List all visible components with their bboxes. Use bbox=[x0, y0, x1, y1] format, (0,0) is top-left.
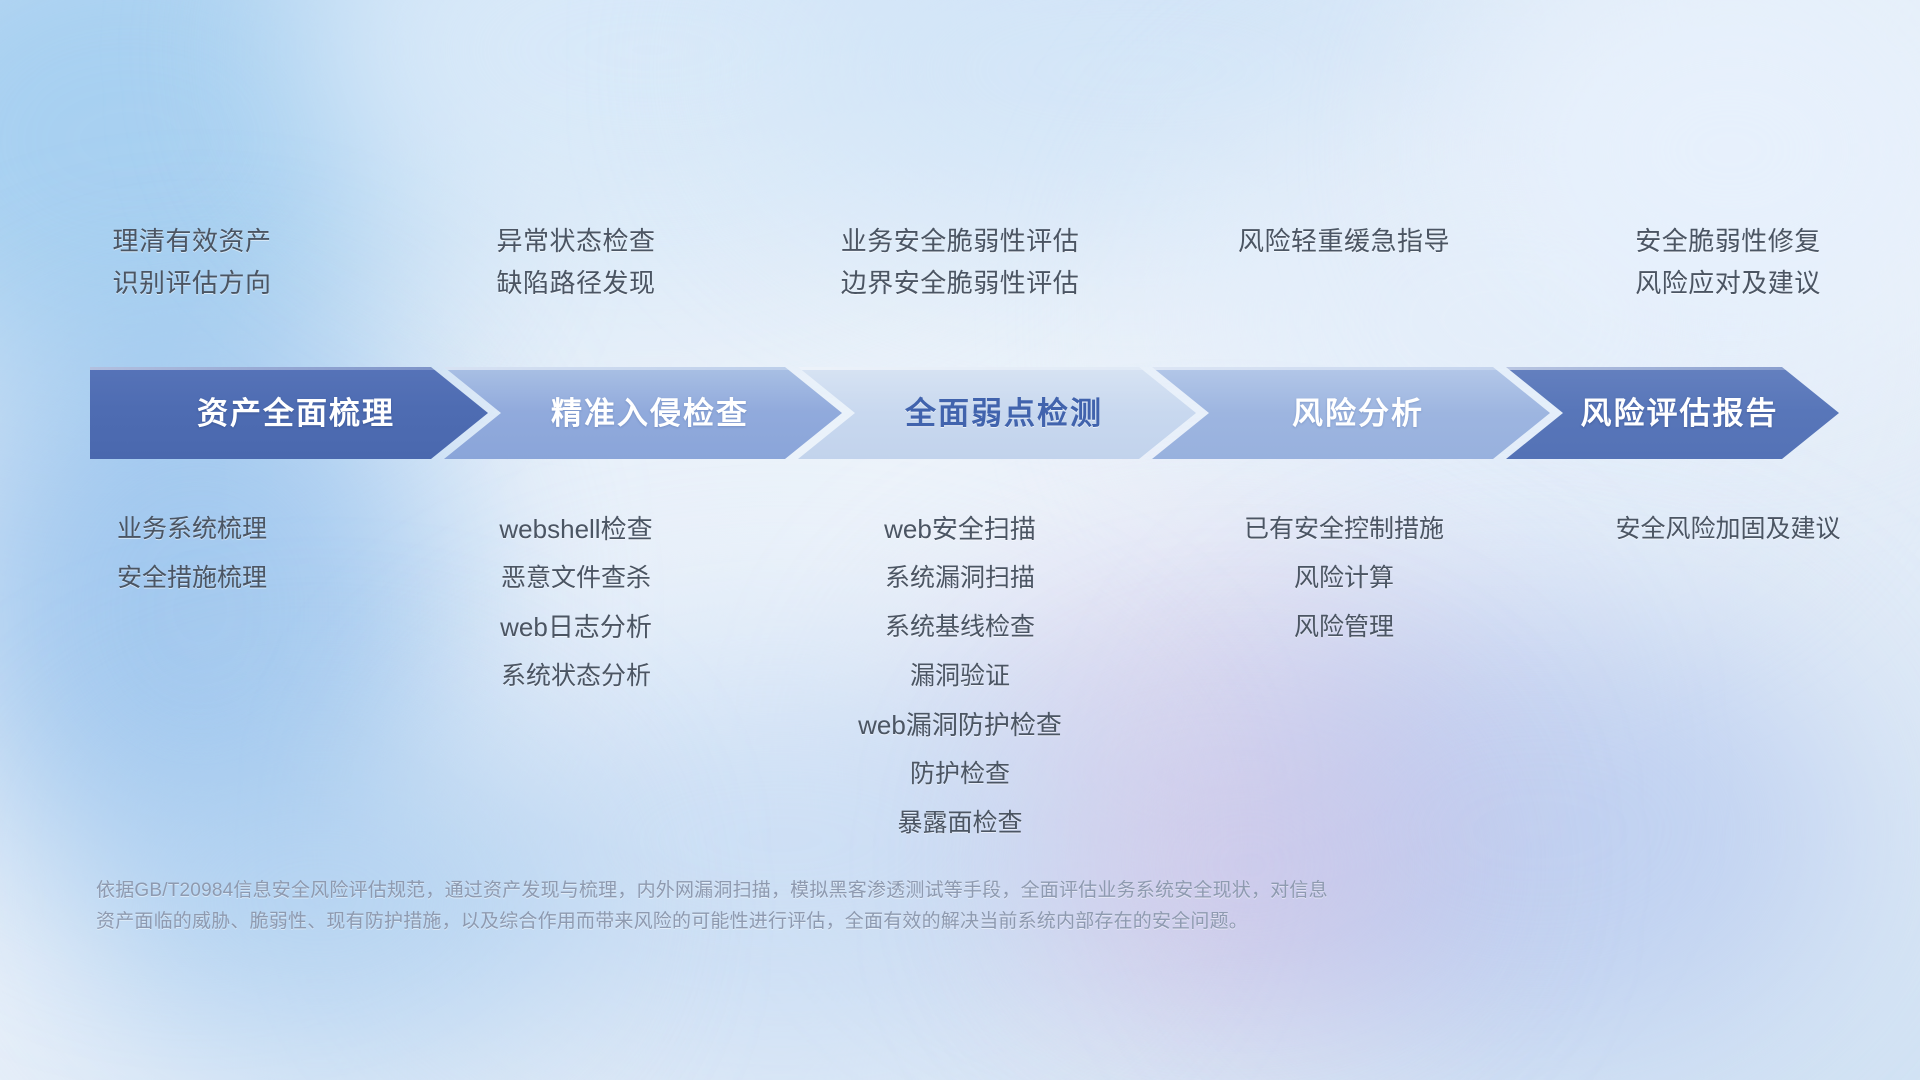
chevron-stage-3[interactable]: 全面弱点检测 bbox=[798, 367, 1196, 459]
list-item: 系统基线检查 bbox=[885, 603, 1035, 652]
top-note: 安全脆弱性修复 bbox=[1635, 228, 1821, 254]
top-notes-row: 理清有效资产 识别评估方向 异常状态检查 缺陷路径发现 业务安全脆弱性评估 边界… bbox=[0, 228, 1920, 348]
list-item: web漏洞防护检查 bbox=[858, 701, 1062, 750]
list-item: 漏洞验证 bbox=[910, 652, 1010, 701]
list-item: webshell检查 bbox=[499, 505, 652, 554]
top-notes-stage-4: 风险轻重缓急指导 bbox=[1152, 228, 1536, 348]
chevron-stage-2[interactable]: 精准入侵检查 bbox=[444, 367, 842, 459]
chevron-stage-5[interactable]: 风险评估报告 bbox=[1506, 367, 1839, 459]
list-item: 业务系统梳理 bbox=[117, 505, 267, 554]
list-item: 防护检查 bbox=[910, 750, 1010, 799]
chevron-label: 资产全面梳理 bbox=[90, 398, 488, 429]
stage-items-row: 业务系统梳理 安全措施梳理 webshell检查 恶意文件查杀 web日志分析 … bbox=[0, 505, 1920, 848]
top-notes-stage-2: 异常状态检查 缺陷路径发现 bbox=[384, 228, 768, 348]
stage-items-3: web安全扫描 系统漏洞扫描 系统基线检查 漏洞验证 web漏洞防护检查 防护检… bbox=[768, 505, 1152, 848]
stage-items-5: 安全风险加固及建议 bbox=[1536, 505, 1920, 554]
stage-items-4: 已有安全控制措施 风险计算 风险管理 bbox=[1152, 505, 1536, 652]
footer-line-2: 资产面临的威胁、脆弱性、现有防护措施，以及综合作用而带来风险的可能性进行评估，全… bbox=[96, 906, 1616, 937]
top-note: 识别评估方向 bbox=[112, 270, 271, 296]
top-note: 业务安全脆弱性评估 bbox=[841, 228, 1080, 254]
process-chevron-band: 资产全面梳理 精准入侵检查 全面弱点检测 风险分析 风险评估报告 bbox=[90, 367, 1839, 459]
chevron-label: 全面弱点检测 bbox=[798, 398, 1196, 429]
list-item: 已有安全控制措施 bbox=[1244, 505, 1444, 554]
top-notes-stage-5: 安全脆弱性修复 风险应对及建议 bbox=[1536, 228, 1920, 348]
top-note: 边界安全脆弱性评估 bbox=[841, 270, 1080, 296]
top-notes-stage-3: 业务安全脆弱性评估 边界安全脆弱性评估 bbox=[768, 228, 1152, 348]
top-note: 异常状态检查 bbox=[496, 228, 655, 254]
list-item: 暴露面检查 bbox=[897, 799, 1022, 848]
top-note: 缺陷路径发现 bbox=[496, 270, 655, 296]
list-item: 系统状态分析 bbox=[501, 652, 651, 701]
footer-line-1: 依据GB/T20984信息安全风险评估规范，通过资产发现与梳理，内外网漏洞扫描，… bbox=[96, 875, 1616, 906]
list-item: 风险计算 bbox=[1294, 554, 1394, 603]
top-note: 理清有效资产 bbox=[112, 228, 271, 254]
top-note: 风险应对及建议 bbox=[1635, 270, 1821, 296]
list-item: 风险管理 bbox=[1294, 603, 1394, 652]
stage-items-1: 业务系统梳理 安全措施梳理 bbox=[0, 505, 384, 603]
list-item: 安全风险加固及建议 bbox=[1615, 505, 1840, 554]
chevron-label: 风险分析 bbox=[1152, 398, 1550, 429]
list-item: web安全扫描 bbox=[884, 505, 1036, 554]
top-note: 风险轻重缓急指导 bbox=[1238, 228, 1450, 254]
list-item: 系统漏洞扫描 bbox=[885, 554, 1035, 603]
process-diagram: 理清有效资产 识别评估方向 异常状态检查 缺陷路径发现 业务安全脆弱性评估 边界… bbox=[0, 0, 1920, 1080]
chevron-label: 精准入侵检查 bbox=[444, 398, 842, 429]
list-item: 安全措施梳理 bbox=[117, 554, 267, 603]
chevron-stage-4[interactable]: 风险分析 bbox=[1152, 367, 1550, 459]
list-item: 恶意文件查杀 bbox=[501, 554, 651, 603]
footer-description: 依据GB/T20984信息安全风险评估规范，通过资产发现与梳理，内外网漏洞扫描，… bbox=[96, 875, 1616, 937]
top-notes-stage-1: 理清有效资产 识别评估方向 bbox=[0, 228, 384, 348]
chevron-label: 风险评估报告 bbox=[1506, 398, 1839, 429]
stage-items-2: webshell检查 恶意文件查杀 web日志分析 系统状态分析 bbox=[384, 505, 768, 701]
chevron-stage-1[interactable]: 资产全面梳理 bbox=[90, 367, 488, 459]
list-item: web日志分析 bbox=[500, 603, 652, 652]
